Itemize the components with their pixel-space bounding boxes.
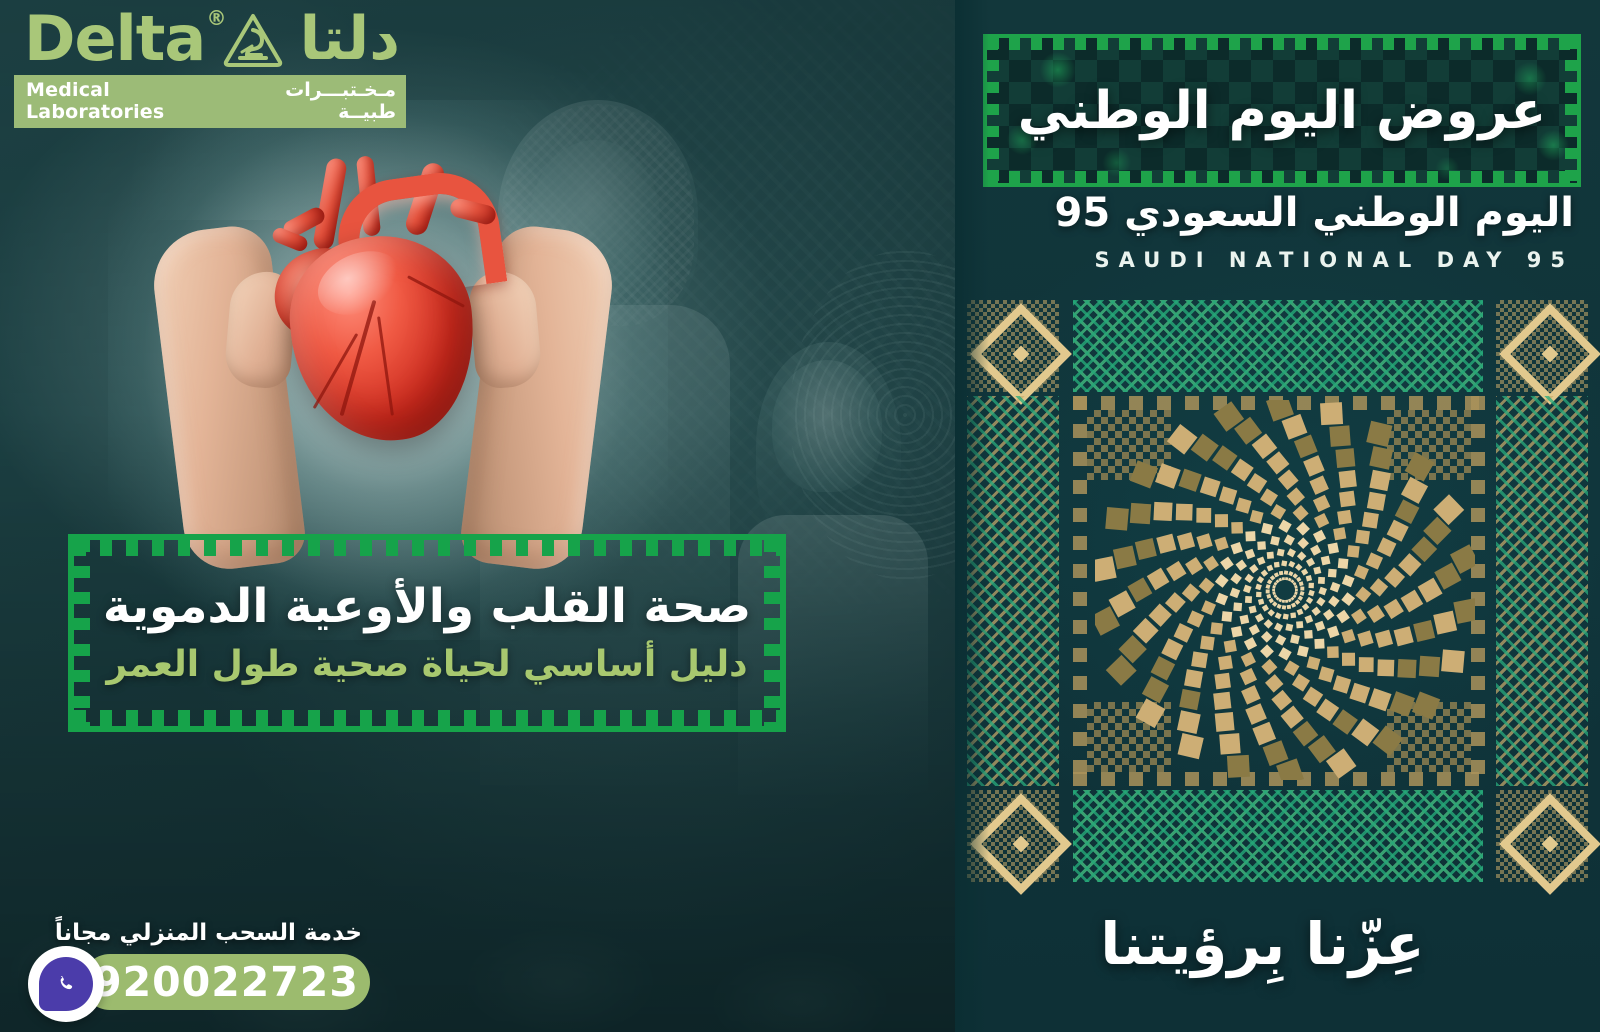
national-day-offers-box: عروض اليوم الوطني [983, 34, 1581, 187]
anatomical-heart-icon [264, 158, 504, 448]
sadu-lattice-band-top [1073, 300, 1483, 392]
national-day-slogan: عِزّنا بِرؤيتنا [955, 910, 1570, 978]
panel-left-edge-fade [955, 0, 989, 1032]
phone-number: 920022723 [93, 958, 359, 1006]
headline-title: صحة القلب والأوعية الدموية [103, 581, 751, 634]
poster-canvas: Delta ® دلتا Medical Laboratories مـخـتب… [0, 0, 1600, 1032]
national-day-panel: عروض اليوم الوطني اليوم الوطني السعودي 9… [955, 0, 1600, 1032]
logo-tagline-bar: Medical Laboratories مـخـتبـــرات طبيــة [14, 75, 406, 128]
contact-block: خدمة السحب المنزلي مجاناً 920022723 [20, 920, 380, 1014]
gold-dot-column-left [1073, 396, 1087, 786]
gold-diamond-motif [1496, 300, 1588, 392]
logo-wordmark-ar: دلتا [300, 9, 400, 69]
logo-wordmark-en: Delta [24, 10, 205, 69]
microscope-triangle-icon: ® [214, 8, 290, 70]
national-day-subtitle-ar: اليوم الوطني السعودي 95 [955, 190, 1574, 236]
sadu-side-band-right [1496, 396, 1588, 786]
gold-diamond-motif [1496, 790, 1588, 882]
logo-tagline-ar: مـخـتبـــرات طبيــة [236, 79, 396, 123]
national-day-subtitle-en: SAUDI NATIONAL DAY 95 [955, 248, 1574, 272]
hands-holding-heart-illustration [168, 150, 598, 570]
headline-subtitle: دليل أساسي لحياة صحية طول العمر [106, 644, 747, 685]
brand-logo[interactable]: Delta ® دلتا Medical Laboratories مـخـتب… [14, 8, 406, 128]
gold-spiral-rosette [1095, 400, 1475, 780]
phone-number-pill[interactable]: 920022723 [82, 954, 370, 1010]
home-service-label: خدمة السحب المنزلي مجاناً [20, 920, 380, 946]
offers-title: عروض اليوم الوطني [987, 38, 1577, 183]
logo-tagline-en: Medical Laboratories [26, 79, 236, 123]
sadu-lattice-band-bottom [1073, 790, 1483, 882]
whatsapp-icon[interactable] [28, 946, 104, 1022]
whatsapp-bubble [39, 957, 93, 1011]
headline-frame: صحة القلب والأوعية الدموية دليل أساسي لح… [68, 534, 786, 732]
